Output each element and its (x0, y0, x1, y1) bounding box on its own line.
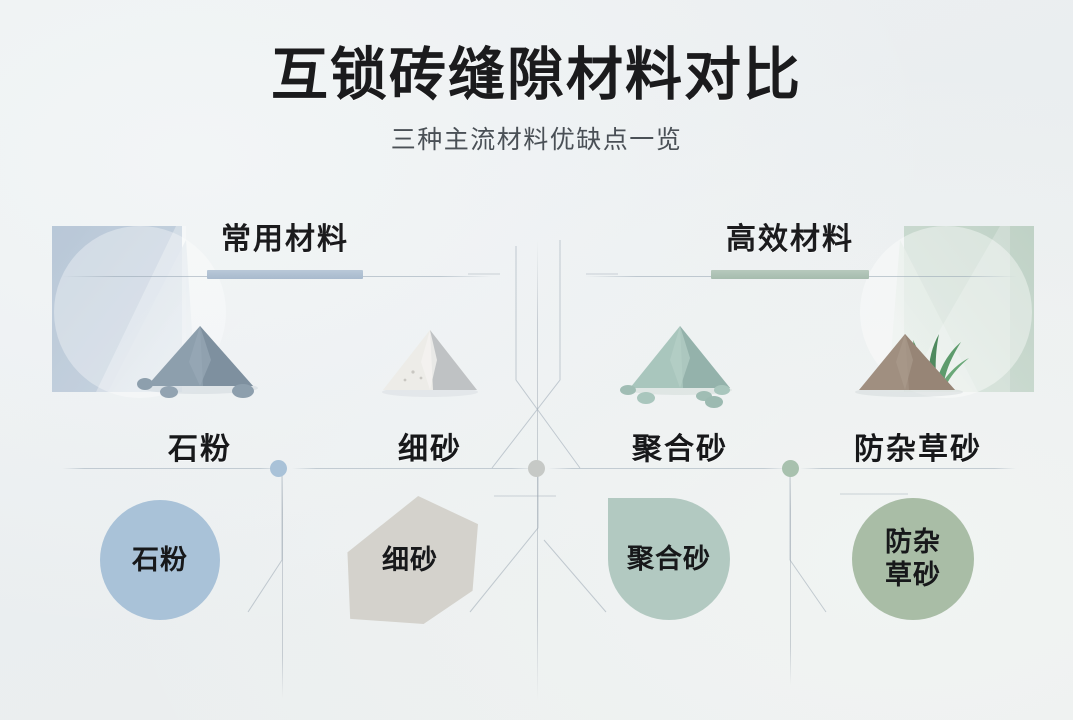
swatch-fine-sand[interactable]: 细砂 (342, 496, 478, 624)
page-title: 互锁砖缝隙材料对比 (0, 0, 1073, 108)
pile-icon (610, 312, 750, 408)
divider-rule (292, 468, 536, 469)
swatch-label-polymeric-sand: 聚合砂 (627, 543, 711, 576)
swatch-polymeric-sand[interactable]: 聚合砂 (608, 498, 730, 620)
pile-with-grass-icon (843, 304, 993, 408)
material-column-polymeric-sand[interactable]: 聚合砂 (560, 300, 800, 468)
pile-icon-wrap (560, 300, 800, 408)
divider-rule (548, 468, 788, 469)
swatch-label-anti-weed-sand: 防杂草砂 (885, 526, 941, 592)
pile-icon (125, 308, 275, 408)
section-header-common: 常用材料 (170, 214, 400, 279)
material-column-anti-weed-sand[interactable]: 防杂草砂 (798, 300, 1038, 468)
section-accent-bar-common (207, 270, 363, 279)
node-dot-polymeric-sand[interactable] (782, 460, 799, 477)
pile-icon-wrap (310, 300, 550, 408)
swatch-anti-weed-sand[interactable]: 防杂草砂 (852, 498, 974, 620)
pile-icon-wrap (80, 300, 320, 408)
material-label-fine-sand: 细砂 (310, 424, 550, 468)
pile-icon-wrap (798, 300, 1038, 408)
section-label-high-efficiency: 高效材料 (655, 214, 925, 258)
material-label-polymeric-sand: 聚合砂 (560, 424, 800, 468)
divider-rule (62, 468, 282, 469)
pile-icon (365, 316, 495, 408)
node-dot-fine-sand[interactable] (528, 460, 545, 477)
swatch-label-fine-sand: 细砂 (382, 544, 438, 577)
material-label-anti-weed-sand: 防杂草砂 (798, 424, 1038, 468)
material-column-fine-sand[interactable]: 细砂 (310, 300, 550, 468)
divider-rule (800, 468, 1016, 469)
section-header-high-efficiency: 高效材料 (655, 214, 925, 279)
column-separator (282, 470, 283, 698)
section-accent-bar-high-efficiency (711, 270, 869, 279)
swatch-stone-powder[interactable]: 石粉 (100, 500, 220, 620)
header: 互锁砖缝隙材料对比 三种主流材料优缺点一览 (0, 0, 1073, 156)
node-dot-stone-powder[interactable] (270, 460, 287, 477)
page-subtitle: 三种主流材料优缺点一览 (0, 108, 1073, 156)
section-label-common: 常用材料 (170, 214, 400, 258)
swatch-label-stone-powder: 石粉 (132, 544, 188, 577)
infographic-canvas: 互锁砖缝隙材料对比 三种主流材料优缺点一览 常用材料 高效材料 石粉 (0, 0, 1073, 720)
column-separator (790, 470, 791, 685)
material-column-stone-powder[interactable]: 石粉 (80, 300, 320, 468)
